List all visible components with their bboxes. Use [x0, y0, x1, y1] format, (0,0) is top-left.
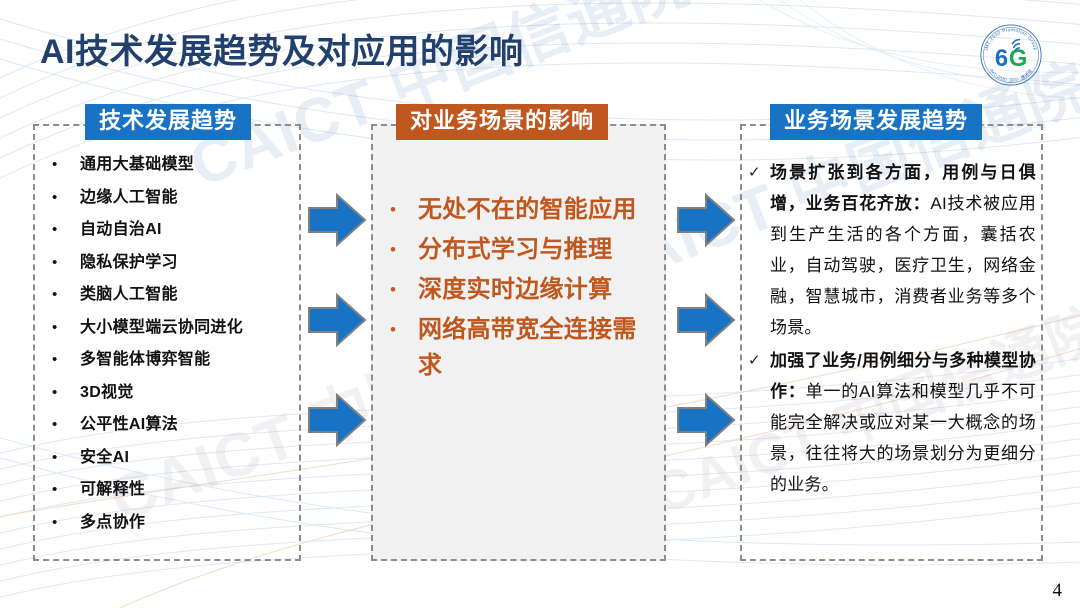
panel-header-business-impact: 对业务场景的影响 [396, 104, 608, 140]
list-item-label: 可解释性 [80, 480, 145, 499]
list-item: ✓ 场景扩张到各方面，用例与日俱增，业务百花齐放：AI技术被应用到生产生活的各个… [748, 157, 1040, 343]
flow-arrow-right-icon [307, 292, 367, 348]
list-item: •网络高带宽全连接需求 [386, 312, 658, 384]
list-item: •通用大基础模型 [48, 155, 298, 174]
bullet-icon: • [48, 448, 80, 467]
bullet-icon: • [48, 480, 80, 499]
list-item: •无处不在的智能应用 [386, 192, 658, 228]
list-item-paragraph: 场景扩张到各方面，用例与日俱增，业务百花齐放：AI技术被应用到生产生活的各个方面… [770, 157, 1036, 343]
bullet-icon: • [386, 312, 418, 348]
bullet-icon: • [48, 155, 80, 174]
flow-arrow-right-icon [676, 292, 736, 348]
list-item-label: 大小模型端云协同进化 [80, 318, 243, 337]
bullet-icon: • [48, 513, 80, 532]
list-item-label: 隐私保护学习 [80, 253, 178, 272]
flow-arrow-right-icon [676, 192, 736, 248]
check-icon: ✓ [748, 345, 770, 376]
bullet-icon: • [48, 415, 80, 434]
list-item-label: 深度实时边缘计算 [418, 272, 654, 308]
bullet-icon: • [48, 318, 80, 337]
list-item: •可解释性 [48, 480, 298, 499]
list-item: ✓ 加强了业务/用例细分与多种模型协作：单一的AI算法和模型几乎不可能完全解决或… [748, 345, 1040, 500]
list-item: •大小模型端云协同进化 [48, 318, 298, 337]
imt2030-6g-logo: IMT-2030 Promotion Group IMT-2030（6G）推进组… [976, 20, 1046, 90]
svg-text:G: G [1009, 45, 1028, 72]
list-item-paragraph: 加强了业务/用例细分与多种模型协作：单一的AI算法和模型几乎不可能完全解决或应对… [770, 345, 1036, 500]
business-impact-list: •无处不在的智能应用 •分布式学习与推理 •深度实时边缘计算 •网络高带宽全连接… [386, 192, 658, 388]
panel-header-tech-trends: 技术发展趋势 [85, 104, 251, 140]
list-item-label: 网络高带宽全连接需求 [418, 312, 654, 384]
list-item-label: 类脑人工智能 [80, 285, 178, 304]
list-item-label: 分布式学习与推理 [418, 232, 654, 268]
list-item-body: AI技术被应用到生产生活的各个方面，囊括农业，自动驾驶，医疗卫生，网络金融，智慧… [770, 194, 1036, 337]
list-item: •深度实时边缘计算 [386, 272, 658, 308]
tech-trends-list: •通用大基础模型 •边缘人工智能 •自动自治AI •隐私保护学习 •类脑人工智能… [48, 155, 298, 545]
bullet-icon: • [386, 192, 418, 228]
list-item-label: 安全AI [80, 448, 129, 467]
bullet-icon: • [386, 272, 418, 308]
bullet-icon: • [48, 350, 80, 369]
page-number: 4 [1053, 580, 1063, 602]
list-item-separator: ： [913, 194, 931, 213]
list-item-label: 通用大基础模型 [80, 155, 194, 174]
list-item-label: 边缘人工智能 [80, 188, 178, 207]
list-item: •边缘人工智能 [48, 188, 298, 207]
flow-arrow-right-icon [307, 392, 367, 448]
list-item: •隐私保护学习 [48, 253, 298, 272]
bullet-icon: • [48, 220, 80, 239]
list-item: •多点协作 [48, 513, 298, 532]
list-item-separator: ： [788, 382, 806, 401]
bullet-icon: • [48, 253, 80, 272]
list-item: •多智能体博弈智能 [48, 350, 298, 369]
list-item-label: 公平性AI算法 [80, 415, 178, 434]
list-item-label: 无处不在的智能应用 [418, 192, 654, 228]
list-item-label: 多点协作 [80, 513, 145, 532]
list-item-label: 多智能体博弈智能 [80, 350, 210, 369]
bullet-icon: • [386, 232, 418, 268]
flow-arrow-right-icon [676, 392, 736, 448]
list-item: •3D视觉 [48, 383, 298, 402]
svg-text:6: 6 [995, 45, 1008, 72]
list-item-label: 3D视觉 [80, 383, 134, 402]
panel-header-scenario-trends: 业务场景发展趋势 [770, 104, 982, 140]
slide-canvas: CAICT 中国信通院 CAICT 中国信通院 CAICT 中国信通院 CAIC… [0, 0, 1080, 608]
list-item: •公平性AI算法 [48, 415, 298, 434]
list-item: •分布式学习与推理 [386, 232, 658, 268]
list-item-label: 自动自治AI [80, 220, 162, 239]
scenario-trends-list: ✓ 场景扩张到各方面，用例与日俱增，业务百花齐放：AI技术被应用到生产生活的各个… [748, 157, 1040, 502]
bullet-icon: • [48, 188, 80, 207]
page-title: AI技术发展趋势及对应用的影响 [40, 24, 524, 73]
list-item: •自动自治AI [48, 220, 298, 239]
list-item-body: 单一的AI算法和模型几乎不可能完全解决或应对某一大概念的场景，往往将大的场景划分… [770, 382, 1036, 494]
list-item: •类脑人工智能 [48, 285, 298, 304]
list-item: •安全AI [48, 448, 298, 467]
bullet-icon: • [48, 285, 80, 304]
check-icon: ✓ [748, 157, 770, 188]
bullet-icon: • [48, 383, 80, 402]
flow-arrow-right-icon [307, 192, 367, 248]
